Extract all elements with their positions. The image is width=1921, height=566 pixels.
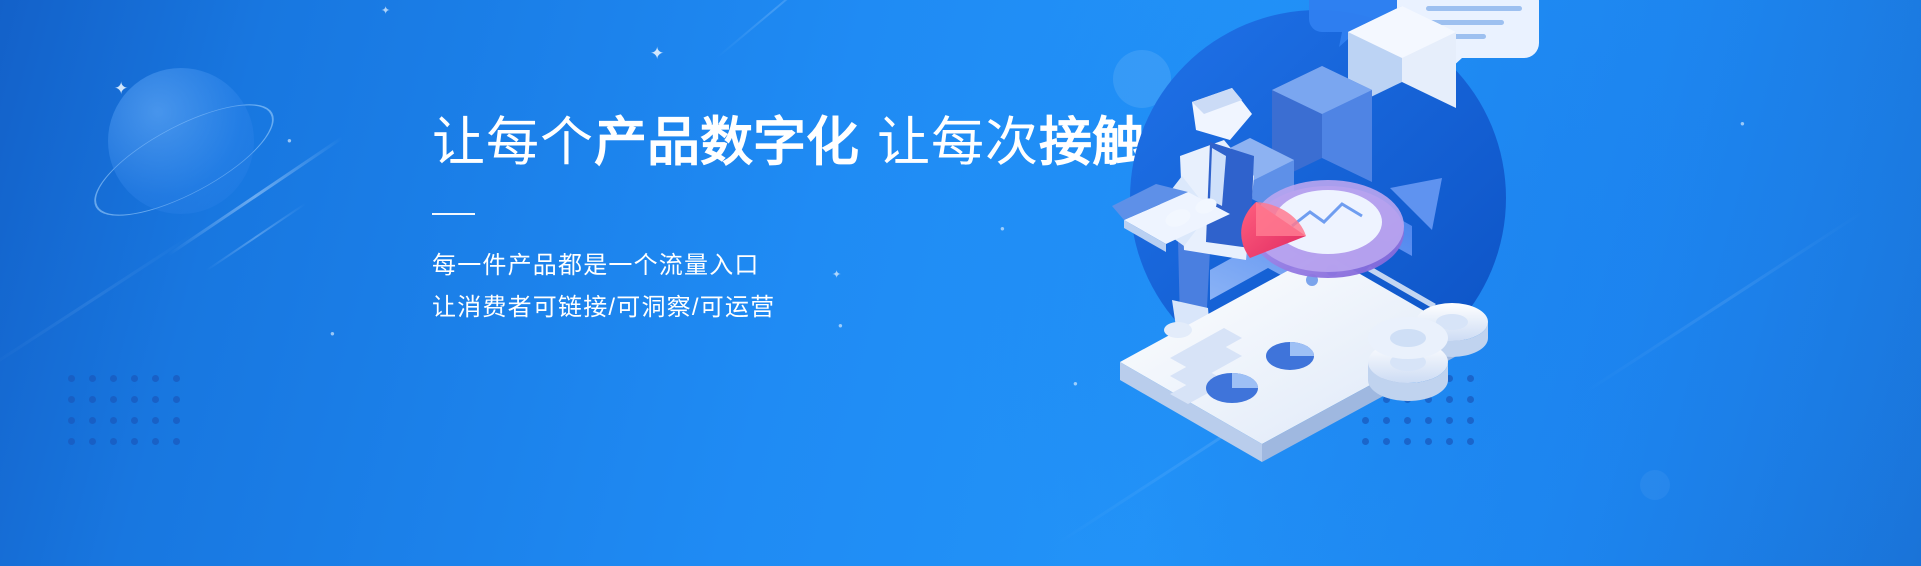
business-analytics-illustration: [1060, 0, 1580, 566]
sparkle-icon: ✦: [114, 80, 128, 97]
light-streak-icon: [206, 203, 307, 272]
headline-part-3: 让每次: [877, 113, 1039, 172]
headline-part-1: 让每个: [432, 113, 594, 172]
sparkle-icon: ✦: [650, 45, 664, 62]
sparkle-icon: ●: [1740, 120, 1745, 128]
hero-subtitle: 每一件产品都是一个流量入口 让消费者可链接/可洞察/可运营: [432, 245, 1132, 329]
hero-text-block: 让每个产品数字化让每次接触有价值 每一件产品都是一个流量入口 让消费者可链接/可…: [432, 112, 1132, 329]
planet-icon: [108, 68, 254, 214]
dot-grid-icon: [68, 375, 180, 445]
hero-banner: ✦ ✦ ✦ ● ● ✦ ● ● ● ● 让每个产品数字化让每次接触有价值: [0, 0, 1921, 566]
headline-part-2: 产品数字化: [594, 113, 859, 172]
light-streak-icon: [1586, 210, 1864, 392]
subtitle-line-1: 每一件产品都是一个流量入口: [432, 245, 1132, 287]
title-divider: [432, 213, 475, 215]
subtitle-line-2: 让消费者可链接/可洞察/可运营: [432, 287, 1132, 329]
sparkle-icon: ✦: [381, 6, 390, 17]
sparkle-icon: ●: [287, 137, 292, 145]
page-title: 让每个产品数字化让每次接触有价值: [432, 112, 1132, 175]
sparkle-icon: ●: [330, 330, 335, 338]
light-streak-icon: [0, 229, 200, 373]
light-streak-icon: [717, 0, 833, 58]
bubble-dot-icon: [1640, 470, 1670, 500]
